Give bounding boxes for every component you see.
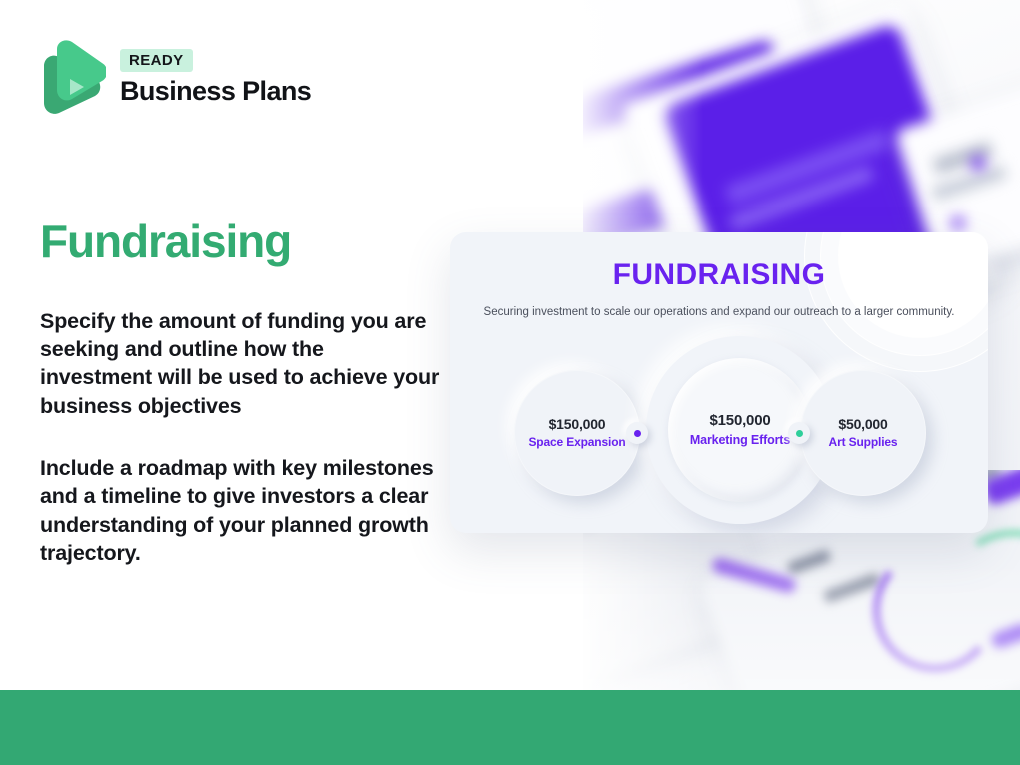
footer-bar (0, 690, 1020, 765)
page-title: Fundraising (40, 216, 440, 267)
funding-circle-art-supplies: $50,000 Art Supplies (800, 370, 926, 496)
connector-dot-right (788, 422, 810, 444)
funding-amount: $150,000 (710, 411, 771, 431)
connector-dot-left (626, 422, 648, 444)
bg-purple-dot-2 (951, 216, 965, 230)
card-subtitle: Securing investment to scale our operati… (450, 304, 988, 320)
funding-label: Art Supplies (829, 434, 898, 450)
brand-text: READY Business Plans (120, 49, 311, 106)
brand-logo-lockup: READY Business Plans (40, 40, 311, 114)
connector-dot-core-purple (634, 430, 641, 437)
funding-circle-space-expansion: $150,000 Space Expansion (514, 370, 640, 496)
ready-badge: READY (120, 49, 193, 72)
funding-label: Marketing Efforts (690, 432, 790, 449)
bg-purple-dot-1 (971, 156, 985, 170)
play-triangle-logo-icon (40, 40, 106, 114)
left-content-column: Fundraising Specify the amount of fundin… (40, 216, 440, 568)
slide-canvas: READY Business Plans Fundraising Specify… (0, 0, 1020, 765)
brand-name: Business Plans (120, 77, 311, 105)
card-title: FUNDRAISING (450, 258, 988, 292)
funding-label: Space Expansion (528, 434, 625, 450)
funding-circles-cluster: $150,000 Space Expansion $150,000 Market… (450, 342, 988, 532)
body-paragraph-2: Include a roadmap with key milestones an… (40, 454, 440, 568)
fundraising-preview-card: FUNDRAISING Securing investment to scale… (450, 232, 988, 533)
body-paragraph-1: Specify the amount of funding you are se… (40, 307, 440, 421)
connector-dot-core-green (796, 430, 803, 437)
funding-amount: $150,000 (549, 415, 606, 434)
funding-amount: $50,000 (838, 415, 887, 434)
